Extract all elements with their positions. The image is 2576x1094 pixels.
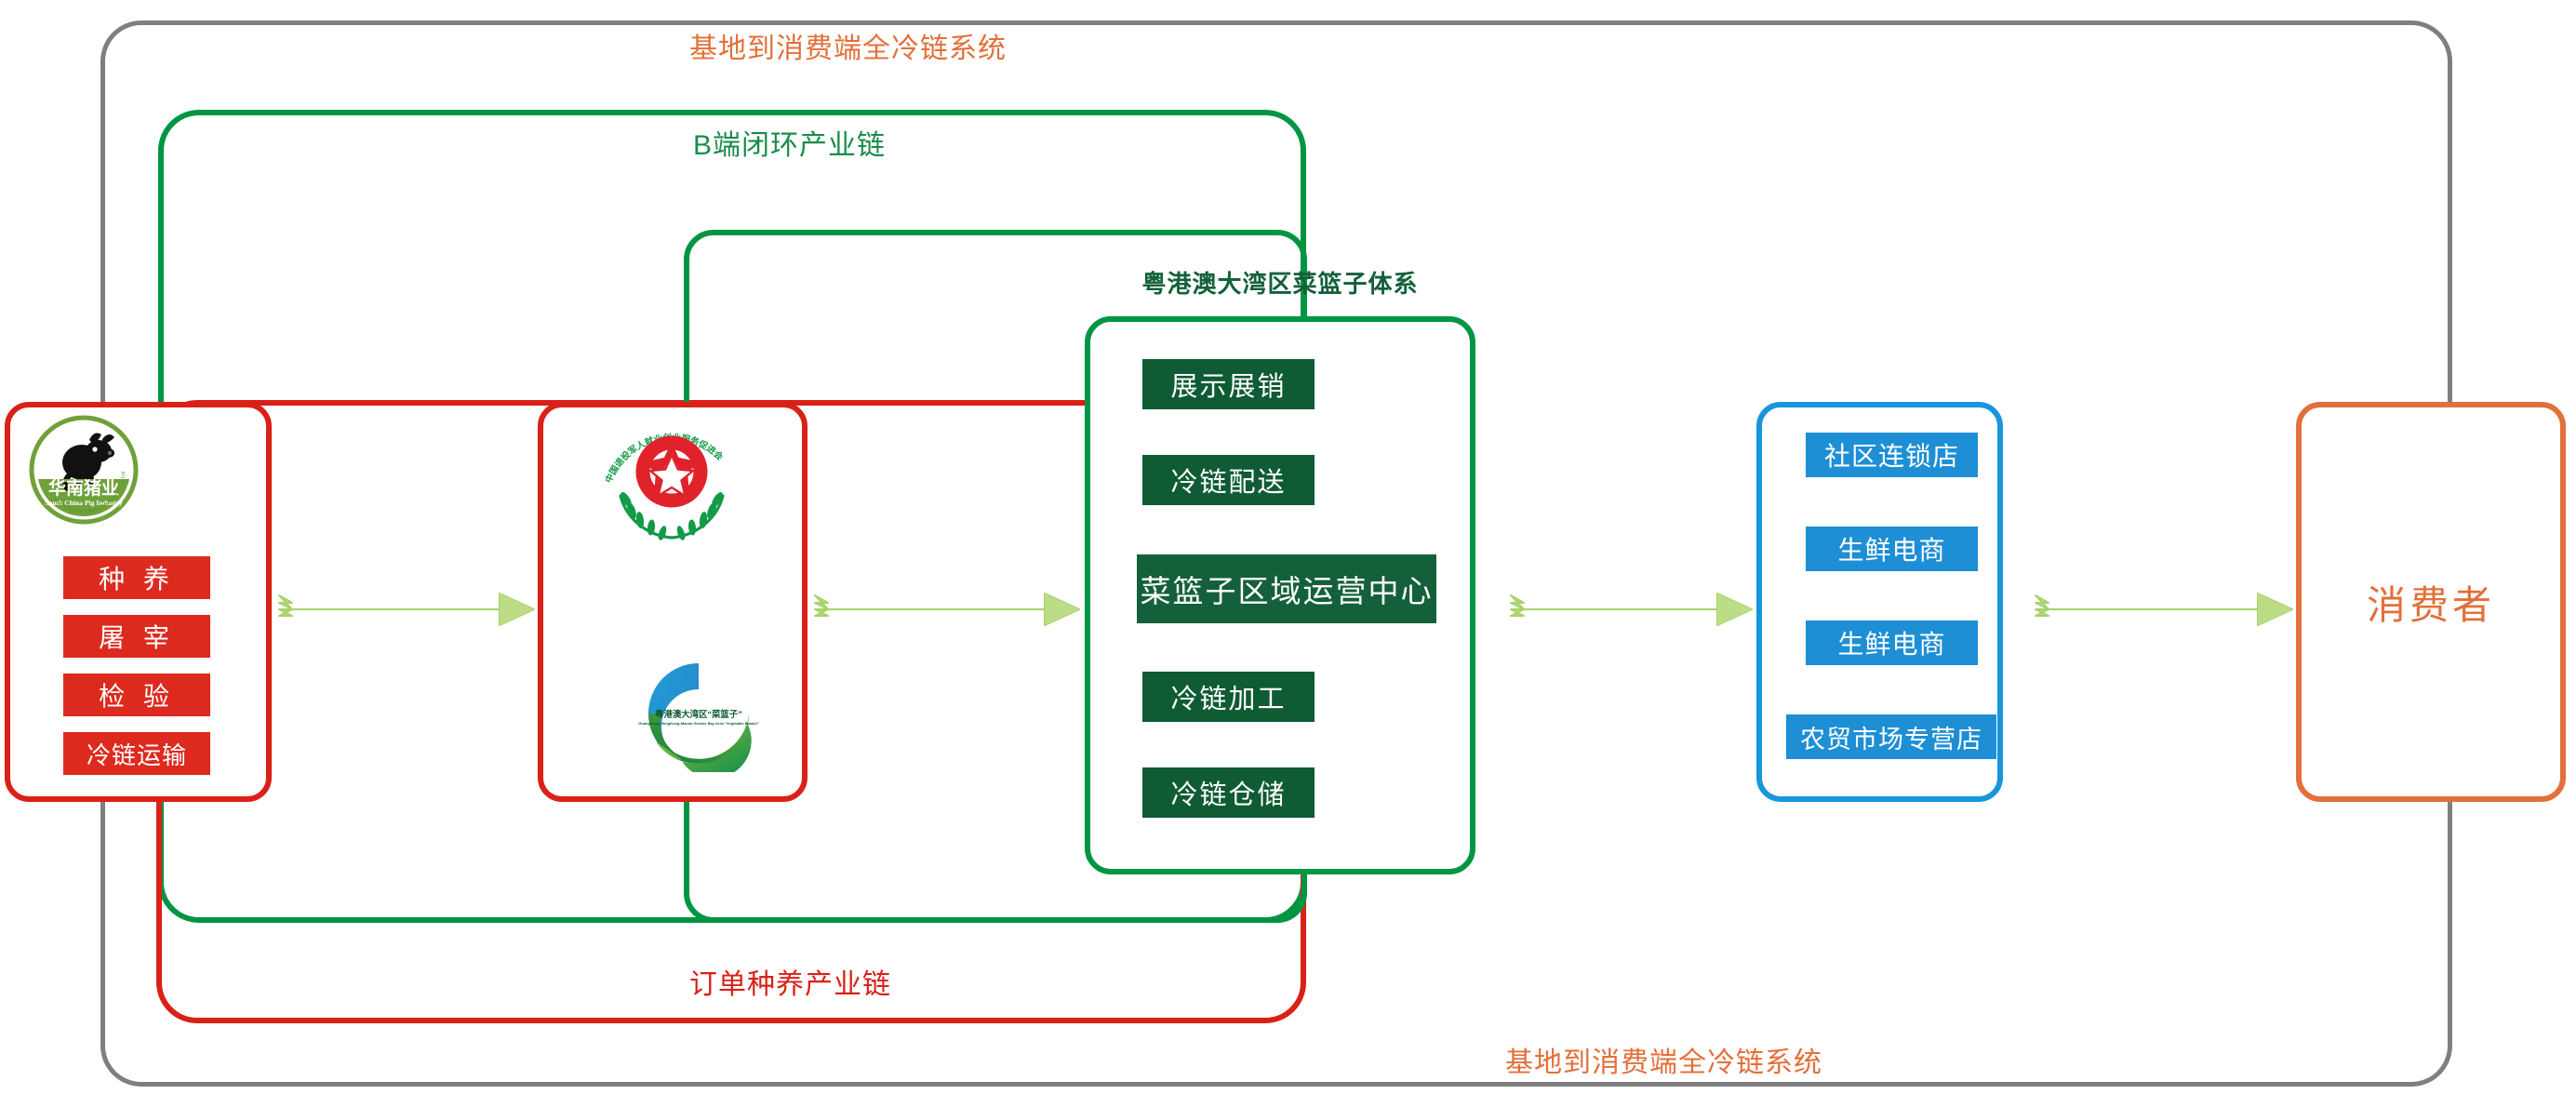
veterans-employment-association-emblem: 中国退役军人就业创业服务促进会 xyxy=(595,423,749,549)
chip-inspection[interactable]: 检 验 xyxy=(63,674,210,716)
chip-cold-chain-storage[interactable]: 冷链仓储 xyxy=(1142,767,1315,818)
flow-arrow-4 xyxy=(2028,586,2300,633)
chip-regional-operation-center[interactable]: 菜篮子区域运营中心 xyxy=(1137,554,1436,623)
chip-slaughter[interactable]: 屠 宰 xyxy=(63,615,210,658)
chip-cold-chain-transport[interactable]: 冷链运输 xyxy=(63,732,210,775)
chip-exhibition-sales[interactable]: 展示展销 xyxy=(1142,359,1315,409)
chip-farmers-market-store[interactable]: 农贸市场专营店 xyxy=(1786,714,1996,759)
chip-cold-chain-distribution[interactable]: 冷链配送 xyxy=(1142,455,1315,505)
frame-label-cold-chain-top: 基地到消费端全冷链系统 xyxy=(680,25,1016,66)
bay-area-system-title: 粤港澳大湾区菜篮子体系 xyxy=(1085,265,1475,300)
consumer-label: 消费者 xyxy=(2296,574,2566,631)
flow-arrow-2 xyxy=(808,586,1087,633)
chip-breeding[interactable]: 种 养 xyxy=(63,556,210,599)
flow-arrow-1 xyxy=(272,586,541,633)
greater-bay-area-vegetable-basket-logo: 粤港澳大湾区“菜篮子” Guangdong-HongKong-Macao Gre… xyxy=(637,656,763,772)
frame-label-cold-chain-bottom: 基地到消费端全冷链系统 xyxy=(1496,1039,1832,1080)
bay-logo-text-cn: 粤港澳大湾区“菜篮子” xyxy=(655,709,742,719)
south-china-pig-industry-logo: 华南猪业 South China Pig Industry South Chin… xyxy=(28,414,140,526)
diagram-canvas: 基地到消费端全冷链系统 B端闭环产业链 订单种养产业链 基地到消费端全冷链系统 xyxy=(0,0,2576,1094)
chip-fresh-ecommerce-2[interactable]: 生鲜电商 xyxy=(1806,620,1978,665)
frame-label-order-farming-chain: 订单种养产业链 xyxy=(680,961,901,1002)
flow-arrow-3 xyxy=(1503,586,1759,633)
frame-label-b-end-closed-loop: B端闭环产业链 xyxy=(684,122,895,163)
chip-cold-chain-processing[interactable]: 冷链加工 xyxy=(1142,672,1315,722)
chip-community-chain-store[interactable]: 社区连锁店 xyxy=(1806,433,1978,477)
bay-logo-text-en: Guangdong-HongKong-Macao Greater Bay Are… xyxy=(638,721,759,726)
logo-text-cn: 华南猪业 xyxy=(48,477,119,499)
chip-fresh-ecommerce-1[interactable]: 生鲜电商 xyxy=(1806,527,1978,571)
